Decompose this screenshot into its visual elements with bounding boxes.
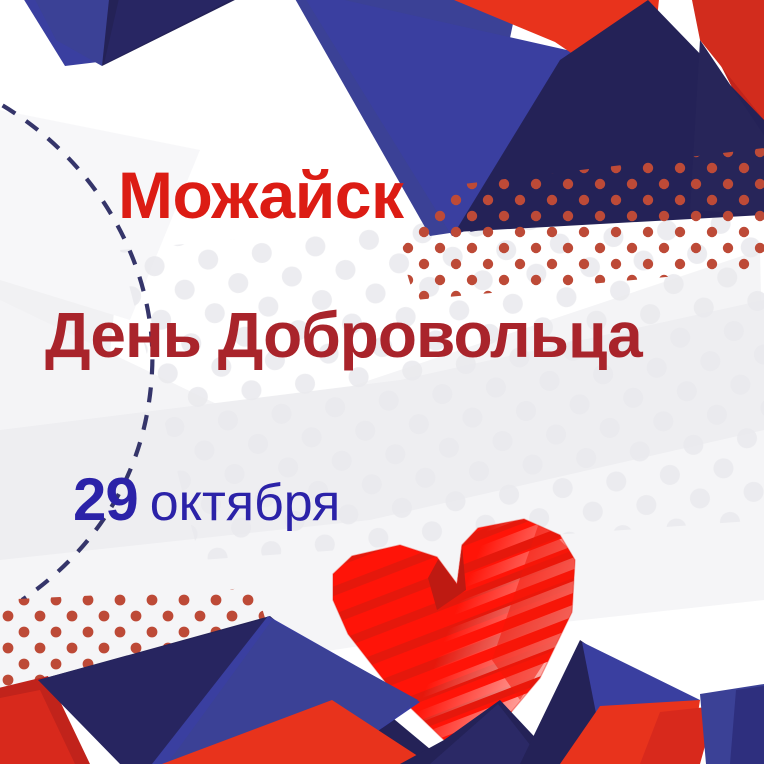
bottom-triangles-layer (0, 0, 764, 764)
poster-canvas: Можайск День Добровольца 29октября (0, 0, 764, 764)
